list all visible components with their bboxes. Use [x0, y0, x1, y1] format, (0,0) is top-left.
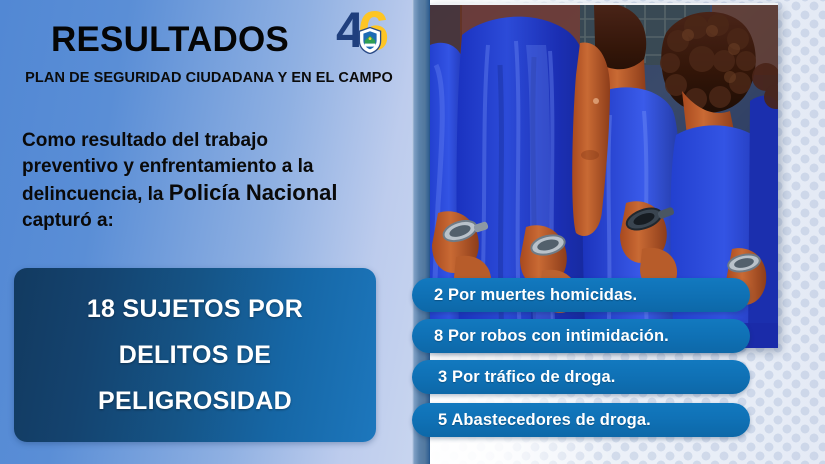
bullet-label-2: 3 Por tráfico de droga.	[412, 368, 615, 387]
intro-line-1: Como resultado del trabajo	[22, 128, 390, 154]
stat-line-3: PELIGROSIDAD	[98, 378, 292, 424]
bullet-label-3: 5 Abastecedores de droga.	[412, 411, 651, 430]
panel-divider-band	[412, 0, 430, 464]
intro-emphasis-policia-nacional: Policía Nacional	[169, 180, 338, 205]
slide-canvas: RESULTADOS PLAN DE SEGURIDAD CIUDADANA Y…	[0, 0, 825, 464]
page-title: RESULTADOS	[0, 18, 340, 62]
bullet-label-1: 8 Por robos con intimidación.	[412, 327, 669, 346]
bullet-label-0: 2 Por muertes homicidas.	[412, 286, 637, 305]
bullet-item-3[interactable]: 5 Abastecedores de droga.	[412, 403, 750, 437]
intro-line-4: capturó a:	[22, 208, 390, 234]
anniversary-46-logo: 6 4	[336, 3, 410, 61]
intro-paragraph: Como resultado del trabajo preventivo y …	[22, 128, 390, 234]
intro-line-3: delincuencia, la Policía Nacional	[22, 180, 390, 208]
bullet-item-1[interactable]: 8 Por robos con intimidación.	[412, 319, 750, 353]
stat-box: 18 SUJETOS POR DELITOS DE PELIGROSIDAD	[14, 268, 376, 442]
shield-icon	[358, 27, 382, 54]
stat-line-2: DELITOS DE	[119, 332, 272, 378]
bullet-item-2[interactable]: 3 Por tráfico de droga.	[412, 360, 750, 394]
page-subtitle: PLAN DE SEGURIDAD CIUDADANA Y EN EL CAMP…	[12, 70, 406, 86]
intro-line-2: preventivo y enfrentamiento a la	[22, 154, 390, 180]
bullet-item-0[interactable]: 2 Por muertes homicidas.	[412, 278, 750, 312]
intro-line-3-prefix: delincuencia, la	[22, 184, 169, 205]
stat-line-1: 18 SUJETOS POR	[87, 286, 303, 332]
